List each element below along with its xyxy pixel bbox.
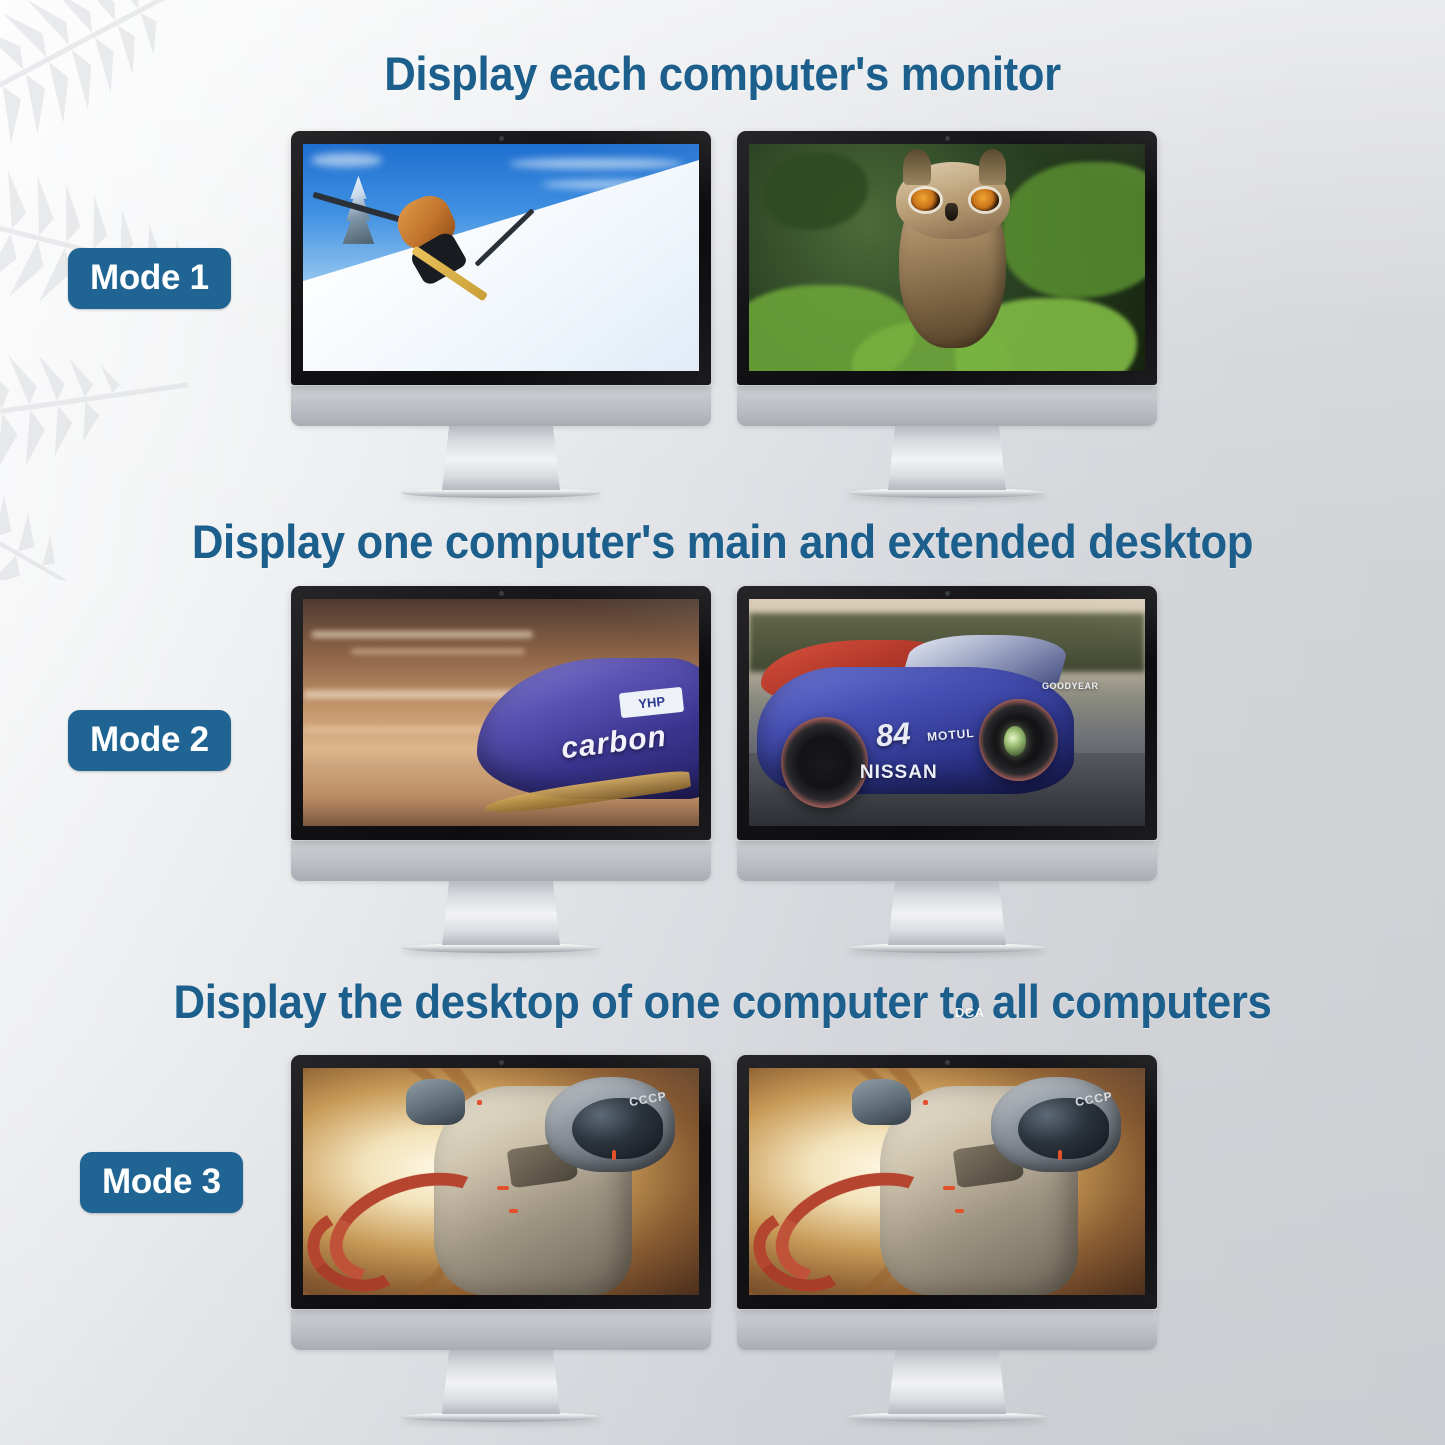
artwork-race-car-panorama-left: YHP carbon: [303, 599, 699, 826]
monitor-mode-3-right: CCCP: [737, 1055, 1157, 1422]
artwork-cosmonaut-in-capsule: CCCP: [303, 1068, 699, 1295]
monitor-screen-skier[interactable]: [303, 144, 699, 371]
monitor-neck: [442, 426, 560, 490]
monitor-chin: [737, 1309, 1157, 1350]
mode-3-section: Display the desktop of one computer to a…: [0, 960, 1445, 1445]
monitor-chin: [291, 840, 711, 881]
monitor-mode-1-left: [291, 131, 711, 498]
badge-mode-3[interactable]: Mode 3: [80, 1152, 243, 1213]
decal-number-84: 84: [874, 716, 911, 755]
monitor-chin: [291, 1309, 711, 1350]
monitor-bezel: CCCP: [291, 1055, 711, 1309]
monitor-chin: [737, 840, 1157, 881]
badge-mode-1[interactable]: Mode 1: [68, 248, 231, 309]
webcam-icon: [945, 1060, 950, 1065]
monitor-neck: [888, 1350, 1006, 1414]
artwork-race-car-panorama-right: 84 MOTUL NISSAN GOODYEAR: [749, 599, 1145, 826]
monitor-neck: [442, 1350, 560, 1414]
monitor-screen-race-right[interactable]: 84 MOTUL NISSAN GOODYEAR: [749, 599, 1145, 826]
monitor-chin: [291, 385, 711, 426]
mode-1-section: Display each computer's monitor Mode 1: [0, 0, 1445, 500]
webcam-icon: [499, 1060, 504, 1065]
monitor-mode-2-right: 84 MOTUL NISSAN GOODYEAR: [737, 586, 1157, 953]
monitor-bezel: YHP carbon: [291, 586, 711, 840]
webcam-icon: [945, 136, 950, 141]
heading-mode-2: Display one computer's main and extended…: [51, 518, 1395, 565]
heading-mode-1: Display each computer's monitor: [51, 50, 1395, 97]
monitor-bezel: CCCP: [737, 1055, 1157, 1309]
monitor-screen-race-left[interactable]: YHP carbon: [303, 599, 699, 826]
heading-mode-3: Display the desktop of one computer to a…: [51, 978, 1395, 1025]
image-watermark: DCA: [955, 1005, 985, 1020]
monitor-screen-cosmonaut-right[interactable]: CCCP: [749, 1068, 1145, 1295]
monitor-mode-2-left: YHP carbon: [291, 586, 711, 953]
artwork-cosmonaut-in-capsule-mirror: CCCP: [749, 1068, 1145, 1295]
monitor-mode-3-left: CCCP: [291, 1055, 711, 1422]
monitor-neck: [442, 881, 560, 945]
webcam-icon: [945, 591, 950, 596]
badge-mode-2[interactable]: Mode 2: [68, 710, 231, 771]
monitor-bezel: [291, 131, 711, 385]
monitor-screen-owl[interactable]: [749, 144, 1145, 371]
webcam-icon: [499, 136, 504, 141]
monitor-mode-1-right: [737, 131, 1157, 498]
monitor-chin: [737, 385, 1157, 426]
mode-2-section: Display one computer's main and extended…: [0, 500, 1445, 960]
webcam-icon: [499, 591, 504, 596]
artwork-skier-on-snowy-slope: [303, 144, 699, 371]
monitor-neck: [888, 426, 1006, 490]
monitor-screen-cosmonaut-left[interactable]: CCCP: [303, 1068, 699, 1295]
monitor-bezel: [737, 131, 1157, 385]
artwork-long-eared-owl: [749, 144, 1145, 371]
monitor-bezel: 84 MOTUL NISSAN GOODYEAR: [737, 586, 1157, 840]
decal-goodyear: GOODYEAR: [1042, 681, 1099, 691]
decal-nissan: NISSAN: [860, 762, 938, 784]
monitor-neck: [888, 881, 1006, 945]
